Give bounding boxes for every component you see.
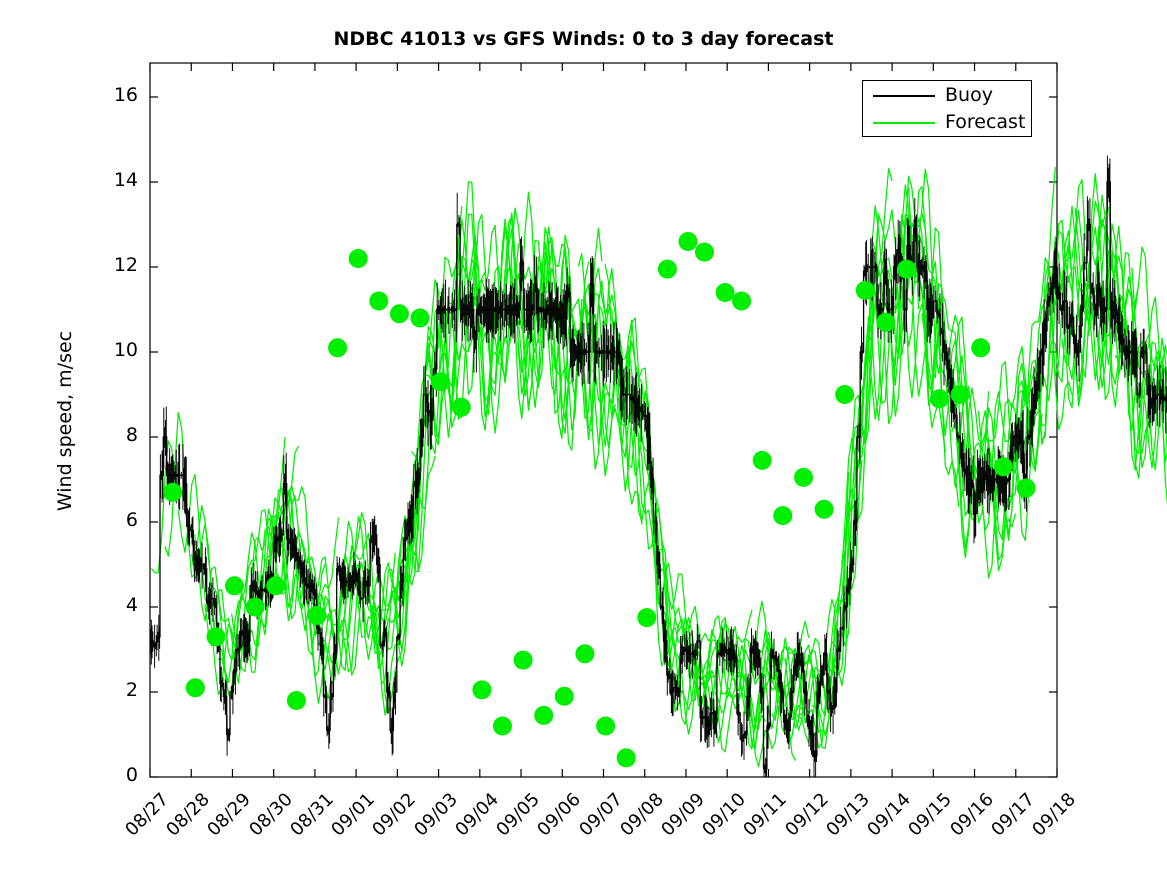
forecast-marker <box>308 606 327 625</box>
forecast-marker <box>555 687 574 706</box>
forecast-marker <box>637 608 656 627</box>
forecast-marker <box>431 372 450 391</box>
forecast-marker <box>266 576 285 595</box>
forecast-marker <box>186 678 205 697</box>
forecast-marker <box>930 389 949 408</box>
forecast-marker <box>794 468 813 487</box>
y-tick-label: 16 <box>98 84 138 106</box>
forecast-marker <box>246 598 265 617</box>
forecast-marker <box>732 292 751 311</box>
forecast-marker <box>472 680 491 699</box>
forecast-marker <box>695 243 714 262</box>
forecast-marker <box>349 249 368 268</box>
forecast-marker <box>575 644 594 663</box>
forecast-marker <box>658 260 677 279</box>
forecast-marker <box>452 398 471 417</box>
y-tick-label: 12 <box>98 254 138 276</box>
legend-label-forecast: Forecast <box>945 111 1025 133</box>
forecast-marker <box>679 232 698 251</box>
forecast-marker <box>534 706 553 725</box>
forecast-marker <box>753 451 772 470</box>
y-tick-label: 0 <box>98 764 138 786</box>
forecast-marker <box>876 313 895 332</box>
forecast-series <box>152 168 1167 767</box>
forecast-marker <box>994 457 1013 476</box>
forecast-marker <box>225 576 244 595</box>
forecast-marker <box>163 483 182 502</box>
forecast-marker <box>390 304 409 323</box>
legend: Buoy Forecast <box>862 80 1032 137</box>
legend-swatch-buoy <box>873 95 935 97</box>
legend-item-forecast: Forecast <box>863 109 1033 137</box>
forecast-marker <box>328 338 347 357</box>
forecast-marker <box>773 506 792 525</box>
forecast-marker <box>617 748 636 767</box>
forecast-marker <box>716 283 735 302</box>
y-tick-label: 14 <box>98 169 138 191</box>
forecast-marker <box>835 385 854 404</box>
forecast-marker <box>207 627 226 646</box>
forecast-marker <box>815 500 834 519</box>
legend-item-buoy: Buoy <box>863 82 1033 110</box>
y-tick-label: 6 <box>98 509 138 531</box>
figure-canvas: NDBC 41013 vs GFS Winds: 0 to 3 day fore… <box>0 0 1167 875</box>
axes-frame <box>150 63 1057 777</box>
y-tick-label: 4 <box>98 594 138 616</box>
forecast-marker <box>411 309 430 328</box>
forecast-marker <box>856 281 875 300</box>
y-tick-label: 10 <box>98 339 138 361</box>
x-tick-marks <box>150 63 1057 777</box>
forecast-marker <box>897 260 916 279</box>
legend-label-buoy: Buoy <box>945 84 993 106</box>
forecast-marker <box>514 651 533 670</box>
legend-swatch-forecast <box>873 122 935 124</box>
forecast-marker <box>596 717 615 736</box>
y-tick-label: 2 <box>98 679 138 701</box>
forecast-marker <box>1017 479 1036 498</box>
forecast-marker <box>493 717 512 736</box>
forecast-marker <box>287 691 306 710</box>
forecast-marker <box>369 292 388 311</box>
forecast-marker <box>951 385 970 404</box>
y-tick-label: 8 <box>98 424 138 446</box>
forecast-marker <box>971 338 990 357</box>
